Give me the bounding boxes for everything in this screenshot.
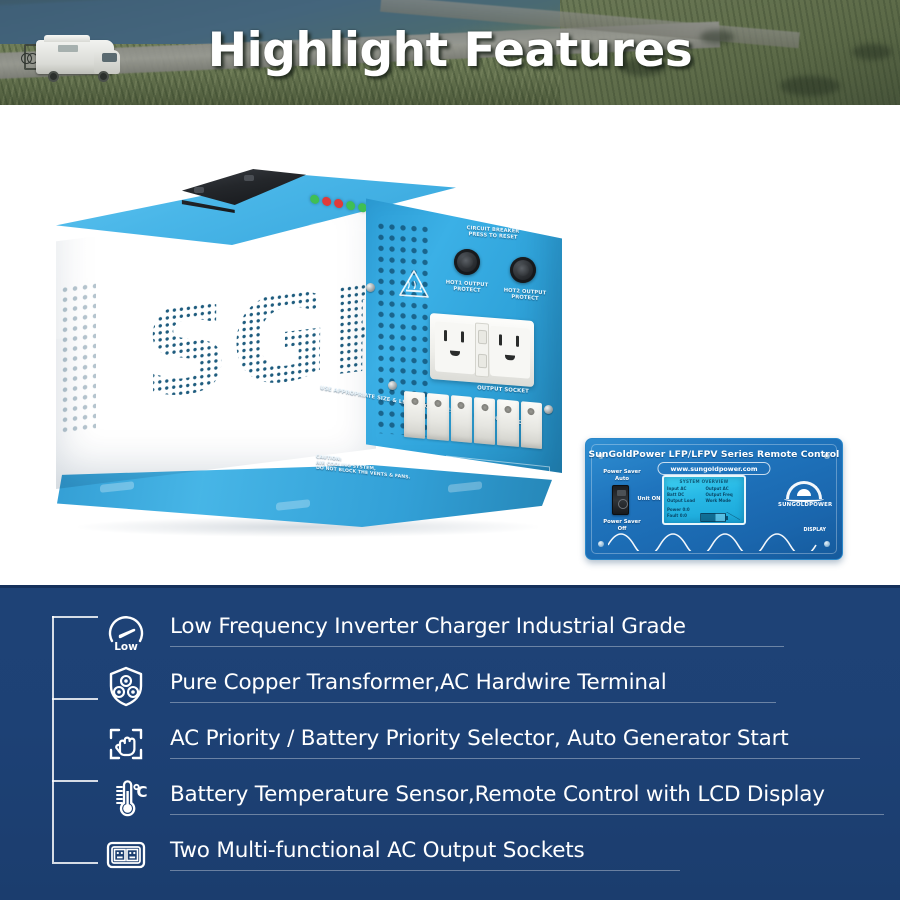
gfci-reset-button[interactable] xyxy=(478,330,487,345)
lcd-readout-grid: Input AC Output AC Batt DC Output Freq O… xyxy=(667,486,741,503)
bracket-spine xyxy=(52,616,54,862)
lcd-field: Batt DC xyxy=(667,492,703,497)
feature-text-wrap: Two Multi-functional AC Output Sockets xyxy=(154,838,888,871)
remote-website-url: www.sungoldpower.com xyxy=(657,462,770,475)
led-indicator xyxy=(358,202,367,213)
bracket-branch xyxy=(52,616,98,618)
feature-text-wrap: Battery Temperature Sensor,Remote Contro… xyxy=(154,782,888,815)
remote-screw xyxy=(824,541,830,547)
feature-label: Battery Temperature Sensor,Remote Contro… xyxy=(170,782,888,814)
celsius-letter: C xyxy=(136,783,147,801)
feature-label: AC Priority / Battery Priority Selector,… xyxy=(170,726,888,758)
sungoldpower-logo: SUNGOLDPOWER xyxy=(778,481,830,513)
logo-text: SUNGOLDPOWER xyxy=(778,502,830,508)
product-highlight-page: Highlight Features SGP xyxy=(0,0,900,900)
dual-gfci-outlet[interactable] xyxy=(430,313,534,387)
copper-transformer-shield-icon xyxy=(98,660,154,712)
terminal[interactable] xyxy=(404,391,425,439)
panel-screw xyxy=(366,283,375,292)
terminal[interactable] xyxy=(474,397,495,445)
feature-list: Low Low Frequency Inverter Charger Indus… xyxy=(98,602,888,882)
feature-item[interactable]: C Battery Temperature Sensor,Remote Cont… xyxy=(98,770,888,826)
logo-sun xyxy=(797,489,811,496)
hot2-breaker-button[interactable] xyxy=(510,257,536,283)
lcd-field: Output AC xyxy=(706,486,742,491)
hot-surface-warning-icon xyxy=(398,268,430,300)
cover-latch xyxy=(194,187,204,193)
cover-latch xyxy=(244,175,254,181)
feature-text-wrap: AC Priority / Battery Priority Selector,… xyxy=(154,726,888,759)
sine-wave-graphic xyxy=(608,529,822,551)
feature-list-panel: Low Low Frequency Inverter Charger Indus… xyxy=(0,585,900,900)
feature-label: Low Frequency Inverter Charger Industria… xyxy=(170,614,888,646)
socket-slot xyxy=(516,336,519,347)
socket-slot xyxy=(444,330,447,341)
feature-item[interactable]: AC Priority / Battery Priority Selector,… xyxy=(98,714,888,770)
panel-screw xyxy=(388,381,397,390)
header-banner: Highlight Features xyxy=(0,0,900,105)
low-frequency-gauge-icon: Low xyxy=(98,604,154,656)
terminal[interactable] xyxy=(427,393,448,441)
sgp-vent-logo: SGP xyxy=(143,260,320,434)
bracket-branch xyxy=(52,780,98,782)
socket-slot xyxy=(499,334,502,345)
product-stage: SGP CIRCUIT BREAKER PRESS TO RESET xyxy=(0,105,900,585)
led-indicator xyxy=(346,200,355,211)
remote-title: SunGoldPower LFP/LFPV Series Remote Cont… xyxy=(586,449,842,460)
feature-underline xyxy=(170,814,884,815)
battery-level-icon xyxy=(700,513,726,522)
power-saver-auto-label: Power Saver Auto xyxy=(600,469,644,482)
remote-control-panel[interactable]: SunGoldPower LFP/LFPV Series Remote Cont… xyxy=(585,438,843,560)
signal-bars-icon xyxy=(726,512,740,520)
led-indicator xyxy=(310,194,319,205)
gfci-test-button[interactable] xyxy=(478,354,487,369)
led-indicator xyxy=(334,198,343,209)
socket-ground xyxy=(450,350,460,356)
side-vent-holes xyxy=(62,283,96,437)
ac-socket-right[interactable] xyxy=(490,326,530,379)
lcd-status-row: Fault 0:0 xyxy=(667,513,690,519)
terminal[interactable] xyxy=(451,395,472,443)
panel-screw xyxy=(544,405,553,414)
feature-underline xyxy=(170,870,680,871)
lcd-field: Work Mode xyxy=(706,498,742,503)
feature-label: Two Multi-functional AC Output Sockets xyxy=(170,838,888,870)
feature-item[interactable]: Pure Copper Transformer,AC Hardwire Term… xyxy=(98,658,888,714)
feature-item[interactable]: Two Multi-functional AC Output Sockets xyxy=(98,826,888,882)
remote-screw xyxy=(598,541,604,547)
lcd-field: Output Load xyxy=(667,498,703,503)
feature-label: Pure Copper Transformer,AC Hardwire Term… xyxy=(170,670,888,702)
hot1-breaker-button[interactable] xyxy=(454,249,480,275)
ac-socket-left[interactable] xyxy=(435,321,475,374)
lcd-field: Input AC xyxy=(667,486,703,491)
inverter-product-image: SGP CIRCUIT BREAKER PRESS TO RESET xyxy=(48,165,568,555)
feature-underline xyxy=(170,758,860,759)
socket-slot xyxy=(461,331,464,342)
lcd-status-rows: Power 0:0 Fault 0:0 xyxy=(667,507,690,519)
bracket-branch xyxy=(52,698,98,700)
terminal[interactable] xyxy=(521,401,542,449)
dual-ac-socket-icon xyxy=(98,828,154,880)
gfci-test-reset[interactable] xyxy=(475,322,489,377)
lcd-field: Output Freq xyxy=(706,492,742,497)
feature-text-wrap: Low Frequency Inverter Charger Industria… xyxy=(154,614,888,647)
feature-item[interactable]: Low Low Frequency Inverter Charger Indus… xyxy=(98,602,888,658)
feature-underline xyxy=(170,702,776,703)
led-indicator xyxy=(322,196,331,207)
thermometer-celsius-icon: C xyxy=(98,772,154,824)
terminal[interactable] xyxy=(497,399,518,447)
bracket-branch xyxy=(52,862,98,864)
priority-selector-hand-icon xyxy=(98,716,154,768)
lcd-display[interactable]: SYSTEM OVERVIEW Input AC Output AC Batt … xyxy=(662,475,746,525)
lcd-header: SYSTEM OVERVIEW xyxy=(664,479,744,484)
page-title: Highlight Features xyxy=(0,0,900,105)
feature-text-wrap: Pure Copper Transformer,AC Hardwire Term… xyxy=(154,670,888,703)
socket-ground xyxy=(505,355,515,361)
svg-text:Low: Low xyxy=(114,641,138,653)
power-saver-switch[interactable] xyxy=(612,485,629,515)
unit-on-label: Unit ON xyxy=(632,496,666,503)
feature-underline xyxy=(170,646,784,647)
